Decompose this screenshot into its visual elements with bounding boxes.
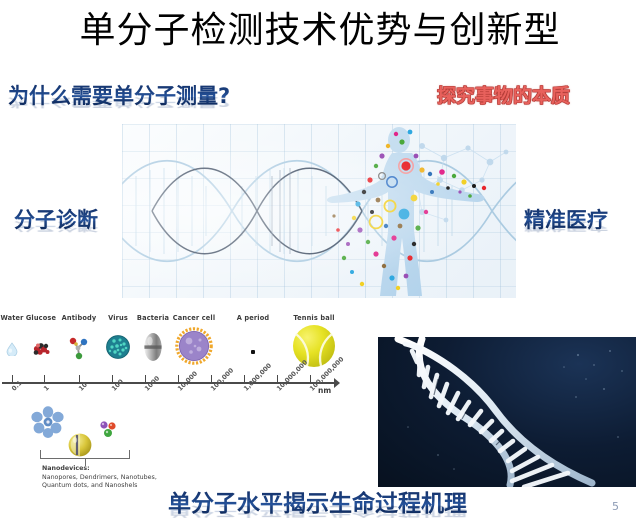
scale-label-glucose: Glucose [26, 314, 56, 322]
page-number: 5 [612, 500, 619, 513]
essence-callout: 探究事物的本质 [437, 84, 570, 108]
size-scale-chart: Water Glucose Antibody Virus Bacteria Ca… [0, 302, 345, 492]
nanodevices-caption-line-2: Quantum dots, and Nanoshels [42, 482, 137, 489]
scale-label-virus: Virus [108, 314, 128, 322]
figure-vignette [122, 124, 516, 298]
nanodevices-caption: Nanodevices: Nanopores, Dendrimers, Nano… [42, 465, 157, 491]
scale-label-tennis-ball: Tennis ball [293, 314, 334, 322]
axis-tick-label-6: 100,000 [209, 366, 235, 392]
dendrimer-flower-icon [31, 406, 65, 438]
scale-label-antibody: Antibody [62, 314, 97, 322]
water-droplet-icon [6, 342, 18, 356]
axis-unit-label: nm [318, 386, 331, 395]
bacteria-icon [141, 332, 165, 362]
scale-label-water: Water [0, 314, 23, 322]
quantum-dots-icon [97, 419, 119, 439]
dna-helix-photo-graphic [378, 337, 636, 487]
cancer-cell-icon [175, 327, 213, 365]
scale-axis-arrow [334, 378, 340, 388]
bottom-conclusion-label: 单分子水平揭示生命过程机理 [168, 491, 467, 517]
scale-label-cancer-cell: Cancer cell [173, 314, 215, 322]
nanodevices-caption-title: Nanodevices: [42, 465, 157, 474]
bottom-conclusion: 单分子水平揭示生命过程机理 单分子水平揭示生命过程机理 [168, 490, 467, 518]
slide-canvas: 单分子检测技术优势与创新型 为什么需要单分子测量? 为什么需要单分子测量? 探究… [0, 0, 640, 530]
question-why-single-molecule: 为什么需要单分子测量? 为什么需要单分子测量? [8, 84, 230, 109]
precision-medicine-label: 精准医疗 [524, 208, 608, 232]
virus-icon [105, 334, 131, 360]
scale-label-a-period: A period [237, 314, 270, 322]
label-molecular-diagnosis: 分子诊断 分子诊断 [14, 208, 98, 233]
axis-tick-label-1: 1 [42, 384, 51, 393]
molecular-diagnosis-label: 分子诊断 [14, 208, 98, 232]
dna-photo [378, 337, 636, 487]
axis-tick-label-7: 1,000,000 [242, 362, 273, 393]
page-title: 单分子检测技术优势与创新型 [0, 8, 640, 54]
hero-figure-human-molecules [122, 124, 516, 298]
antibody-icon [67, 336, 91, 360]
nanodevices-bracket [40, 450, 130, 459]
nanodevices-caption-line-1: Nanopores, Dendrimers, Nanotubes, [42, 474, 157, 481]
period-dot-icon [251, 350, 255, 354]
scale-label-bacteria: Bacteria [137, 314, 169, 322]
label-precision-medicine: 精准医疗 精准医疗 [524, 208, 608, 233]
question-why-label: 为什么需要单分子测量? [8, 84, 230, 108]
glucose-molecule-icon [31, 340, 51, 358]
